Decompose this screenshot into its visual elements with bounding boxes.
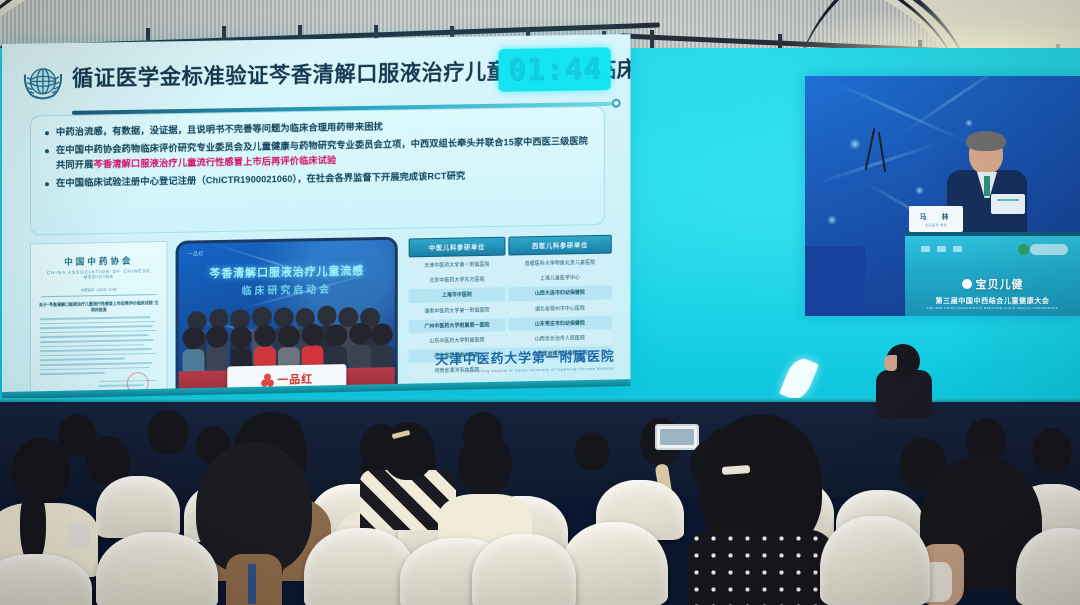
lanyard [248,564,256,604]
approval-document-image: 中国中药协会 CHINA ASSOCIATION OF CHINESE MEDI… [30,241,168,399]
table-cell: 天津中医药大学第一附属医院 [409,258,506,273]
table-header-row: 中医儿科参研单位 西医儿科参研单位 [409,235,612,258]
table-cell: 湖南中医药大学第一附属医院 [409,303,506,318]
lectern-badge [1030,244,1068,255]
table-cell: 山西省长治市人民医院 [508,331,612,346]
speaker-hair [966,131,1006,151]
table-row: 天津中医药大学第一附属医院 首都医科大学附属北京儿童医院 [409,256,612,273]
table-cell: 上海儿童医学中心 [508,271,612,286]
table-header-cell: 中医儿科参研单位 [409,237,506,258]
nameplate-name: 马 林 [920,212,953,222]
chair [820,516,930,605]
document-org-name-en: CHINA ASSOCIATION OF CHINESE MEDICINE [31,268,167,281]
bullet-dot-icon [45,131,49,135]
feed-wall-panel-left [805,246,865,316]
conference-hall-photo: 循证医学金标准验证芩香清解口服液治疗儿童流感独特临床价值 01:44 中药治流感… [0,0,1080,605]
table-cell: 山东枣庄市妇幼保健院 [508,316,612,331]
table-cell: 山东中医药大学附属医院 [409,333,506,348]
polka-dot-top [688,530,834,605]
globe-laurel-emblem-icon [16,61,70,106]
table-header-cell: 西医儿科参研单位 [508,235,612,256]
lectern-conference-name: 第三届中国中西结合儿童健康大会 [905,296,1080,306]
chair [96,476,180,538]
lectern-conference-name-en: THE 3RD CHINA INTEGRATIVE MEDICINE CHILD… [905,306,1080,310]
bullet-dot-icon [45,182,49,186]
document-title: 关于“芩香清解口服液治疗儿童流行性感冒上市后再评价临床试验”立项的批复 [39,300,159,314]
table-row: 北京中医药大学东方医院 上海儿童医学中心 [409,271,612,288]
footer-institution: 天津中医药大学第一附属医院 [435,346,614,368]
table-row: 湖南中医药大学第一附属医院 湖北省鄂州市中心医院 [409,301,612,318]
microphone-stem-icon [878,132,886,172]
document-org-name: 中国中药协会 [39,254,159,268]
audience-head [1032,428,1072,473]
table-cell: 山西大连市妇幼保健院 [508,286,612,301]
table-cell: 首都医科大学附属北京儿童医院 [508,256,612,271]
lectern-brand-text: 宝贝儿健 [976,279,1024,291]
photo-corner-logo: 一品红 [187,250,203,257]
speaker-badge [991,194,1025,214]
document-body-text [40,316,158,375]
nameplate-title: 主任医师 教授 [925,223,947,227]
chair [96,532,218,605]
table-row: 上海市中医院 山西大连市妇幼保健院 [409,286,612,303]
speaker-nameplate: 马 林 主任医师 教授 [909,206,963,232]
kickoff-meeting-group-photo: 一品红 芩香清解口服液治疗儿童流感 临床研究启动会 [176,237,398,399]
document-divider [41,294,157,297]
lectern-sponsor-logos [921,246,962,252]
table-cell: 上海市中医院 [409,288,506,303]
chair [472,534,576,605]
lectern: 宝贝儿健 第三届中国中西结合儿童健康大会 THE 3RD CHINA INTEG… [905,232,1080,316]
table-cell: 广州中医药大学附属第一医院 [409,318,506,333]
projected-slide: 循证医学金标准验证芩香清解口服液治疗儿童流感独特临床价值 01:44 中药治流感… [2,34,630,399]
face-mask [68,522,90,548]
lectern-brand-icon [962,279,972,289]
table-row: 广州中医药大学附属第一医院 山东枣庄市妇幼保健院 [409,316,612,333]
timer-value: 01:44 [508,51,602,87]
bullet-dot-icon [45,149,49,153]
slide-bullet-card: 中药治流感，有数据，没证据，且说明书不完善等问题为临床合理用药带来困扰 在中国中… [30,106,605,236]
chair [560,522,668,605]
lectern-brand: 宝贝儿健 [905,276,1080,292]
bullet-text: 在中国临床试验注册中心登记注册（ChiCTR1900021060），在社会各界监… [56,169,465,191]
group-photo-attendees [179,270,395,374]
sponsor-logo-icon [261,373,274,386]
table-cell: 湖北省鄂州市中心医院 [508,301,612,316]
bullet-text-highlight: 芩香清解口服液治疗儿童流行性感冒上市后再评价临床试验 [93,155,336,169]
presentation-timer: 01:44 [499,47,611,91]
speaker-tie [984,176,990,196]
speaker-video-feed: 马 林 主任医师 教授 宝贝儿健 第三届中国中西结合儿童健康大会 THE 3RD… [805,76,1080,316]
seated-audience [0,404,1080,605]
slide-footer: 天津中医药大学第一附属医院 First Teaching Hospital of… [435,346,614,374]
audience-head [148,410,188,455]
document-number: 中药协字〔2019〕XX号 [31,286,167,294]
audience-head [575,432,609,470]
bullet-text: 中药治流感，有数据，没证据，且说明书不完善等问题为临床合理用药带来困扰 [56,120,383,140]
slide-title-end-dot [612,99,621,108]
table-cell: 北京中医药大学东方医院 [409,273,506,288]
